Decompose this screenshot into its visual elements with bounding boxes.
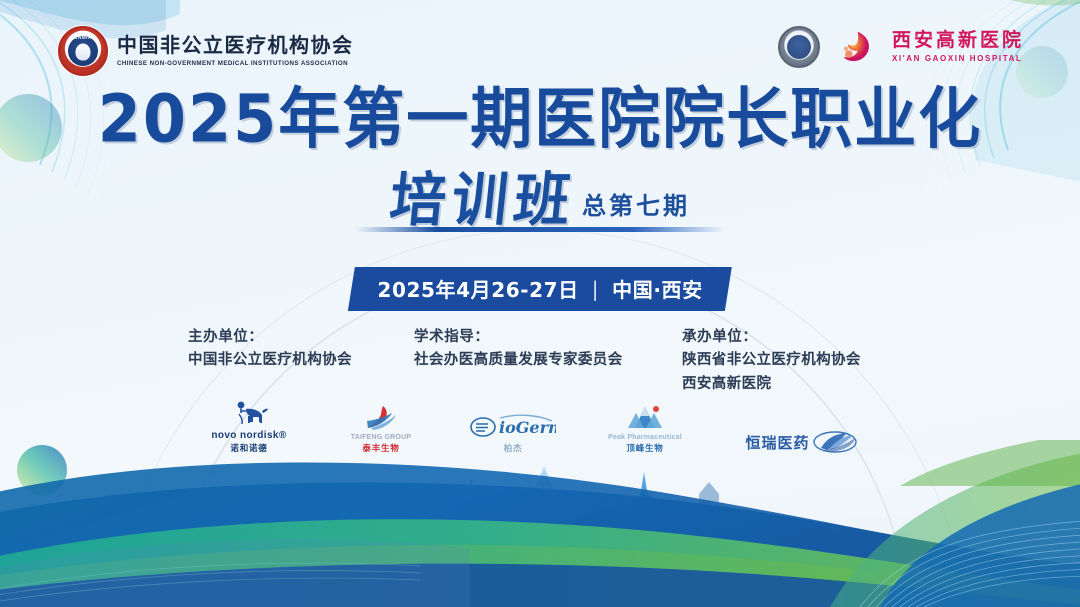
sponsor-name-cn: 恒瑞医药	[745, 432, 809, 453]
sponsor-name-en: novo nordisk®	[211, 430, 286, 441]
hengrui-swoosh-icon	[813, 430, 863, 454]
cnmia-name-cn: 中国非公立医疗机构协会	[117, 35, 354, 58]
bull-icon	[229, 400, 269, 428]
sponsor-hengrui: 恒瑞医药	[729, 416, 879, 454]
gaoxin-hospital-logo: 西安高新医院 XI'AN GAOXIN HOSPITAL	[778, 26, 1024, 68]
cnmia-name-en: CHINESE NON-GOVERNMENT MEDICAL INSTITUTI…	[117, 60, 354, 67]
iogerm-e-icon: ioGerm	[470, 413, 556, 439]
title-issue-number: 总第七期	[582, 186, 690, 228]
title-underline	[355, 227, 725, 232]
sponsor-peak-pharmaceutical: Peak Pharmaceutical 顶峰生物	[597, 404, 693, 454]
sponsor-name-en: Peak Pharmaceutical	[608, 434, 682, 441]
svg-text:ioGerm: ioGerm	[499, 418, 556, 437]
sponsor-name-cn: 泰丰生物	[362, 442, 399, 454]
organizer-column-coorganizer: 承办单位： 陕西省非公立医疗机构协会 西安高新医院	[682, 326, 861, 396]
sponsor-name-cn: 柏杰	[504, 442, 523, 454]
peak-mountain-icon	[625, 404, 665, 432]
conference-poster: CNMIA 中国非公立医疗机构协会 CHINESE NON-GOVERNMENT…	[0, 0, 1080, 607]
organizer-value: 西安高新医院	[682, 373, 861, 396]
cnmia-emblem-icon: CNMIA	[58, 26, 108, 76]
hospital-seal-icon	[778, 26, 820, 68]
cnmia-abbr: CNMIA	[74, 35, 91, 40]
organizer-column-host: 主办单位： 中国非公立医疗机构协会	[188, 326, 352, 373]
organizer-value: 中国非公立医疗机构协会	[188, 349, 352, 372]
cnmia-logo: CNMIA 中国非公立医疗机构协会 CHINESE NON-GOVERNMENT…	[58, 26, 354, 76]
sponsor-name-cn: 诺和诺德	[230, 442, 267, 454]
organizer-label: 学术指导：	[414, 326, 623, 349]
sponsor-name-cn: 顶峰生物	[626, 442, 663, 454]
sponsor-name-en: TAIFENG GROUP	[351, 434, 411, 441]
organizer-column-academic: 学术指导： 社会办医高质量发展专家委员会	[414, 326, 623, 373]
sponsors-row: novo nordisk® 诺和诺德 TAIFENG GROUP 泰丰生物 io…	[0, 400, 1080, 454]
gaoxin-flame-icon	[838, 29, 874, 65]
poster-header: CNMIA 中国非公立医疗机构协会 CHINESE NON-GOVERNMENT…	[0, 0, 1080, 90]
taifeng-swoosh-icon	[361, 404, 401, 432]
sponsor-iogerm: ioGerm ioGerm 柏杰	[465, 411, 561, 454]
date-location-badge: 2025年4月26-27日 | 中国·西安	[348, 267, 732, 311]
gaoxin-name-en: XI'AN GAOXIN HOSPITAL	[892, 54, 1024, 63]
organizer-value: 陕西省非公立医疗机构协会	[682, 349, 861, 372]
organizer-label: 承办单位：	[682, 326, 861, 349]
event-date: 2025年4月26-27日	[377, 274, 578, 303]
page-title: 2025年第一期医院院长职业化	[0, 86, 1080, 152]
event-location: 中国·西安	[612, 274, 703, 303]
title-subline: 培训班 总第七期	[0, 172, 1080, 228]
sponsor-novo-nordisk: novo nordisk® 诺和诺德	[201, 400, 297, 454]
date-separator: |	[592, 277, 599, 301]
title-subline-text: 培训班	[387, 171, 579, 229]
gaoxin-name-cn: 西安高新医院	[892, 31, 1024, 52]
sponsor-taifeng: TAIFENG GROUP 泰丰生物	[333, 404, 429, 454]
organizer-value: 社会办医高质量发展专家委员会	[414, 349, 623, 372]
organizer-label: 主办单位：	[188, 326, 352, 349]
